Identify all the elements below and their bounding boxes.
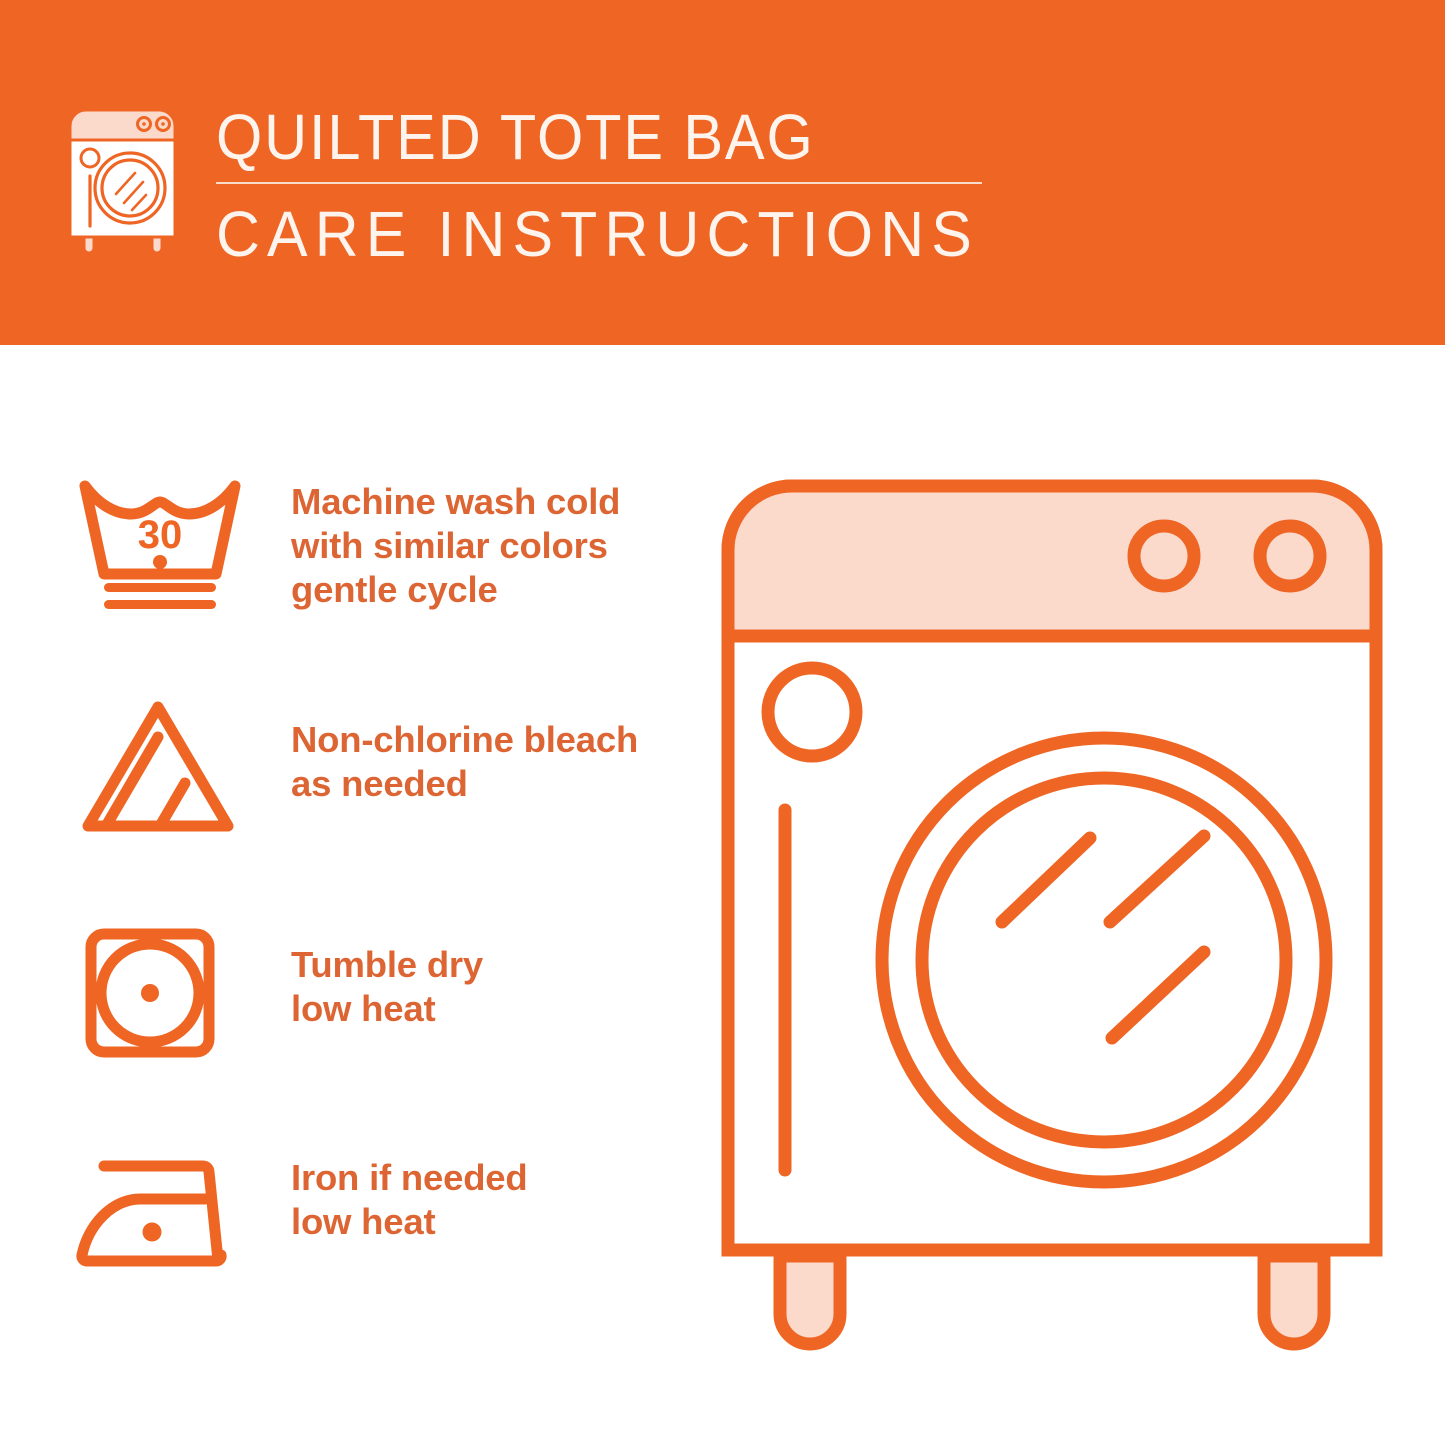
page-title: QUILTED TOTE BAG [216,98,932,176]
header-banner: QUILTED TOTE BAG CARE INSTRUCTIONS [0,0,1445,345]
care-item-tumble-dry-label: Tumble dry low heat [291,943,691,1031]
care-item-wash: 30 Machine wash cold with similar colors… [0,470,700,660]
care-line: gentle cycle [291,568,691,612]
page-subtitle: CARE INSTRUCTIONS [216,198,948,270]
title-divider [216,182,982,184]
control-panel [728,486,1376,636]
wash-tub-30-icon: 30 [72,470,248,620]
care-line: low heat [291,987,691,1031]
iron-low-heat-icon [66,1152,246,1282]
care-line: as needed [291,762,691,806]
washing-machine-icon [62,100,192,255]
leg-left [780,1256,840,1344]
leg-right [1264,1256,1324,1344]
care-item-tumble-dry: Tumble dry low heat [0,910,700,1100]
care-item-bleach-label: Non-chlorine bleach as needed [291,718,691,806]
care-item-bleach: Non-chlorine bleach as needed [0,685,700,875]
care-item-iron-label: Iron if needed low heat [291,1156,691,1244]
non-chlorine-bleach-triangle-icon [70,695,245,840]
care-line: Iron if needed [291,1156,691,1200]
care-instruction-list: 30 Machine wash cold with similar colors… [0,345,700,1445]
care-line: with similar colors [291,524,691,568]
care-line: Non-chlorine bleach [291,718,691,762]
wash-temperature-label: 30 [138,513,183,557]
front-load-washing-machine-illustration [712,470,1392,1370]
care-line: low heat [291,1200,691,1244]
tumble-dry-low-icon [80,920,220,1065]
care-line: Tumble dry [291,943,691,987]
care-item-iron: Iron if needed low heat [0,1130,700,1320]
header-title-group: QUILTED TOTE BAG CARE INSTRUCTIONS [216,98,986,270]
care-line: Machine wash cold [291,480,691,524]
care-item-wash-label: Machine wash cold with similar colors ge… [291,480,691,612]
